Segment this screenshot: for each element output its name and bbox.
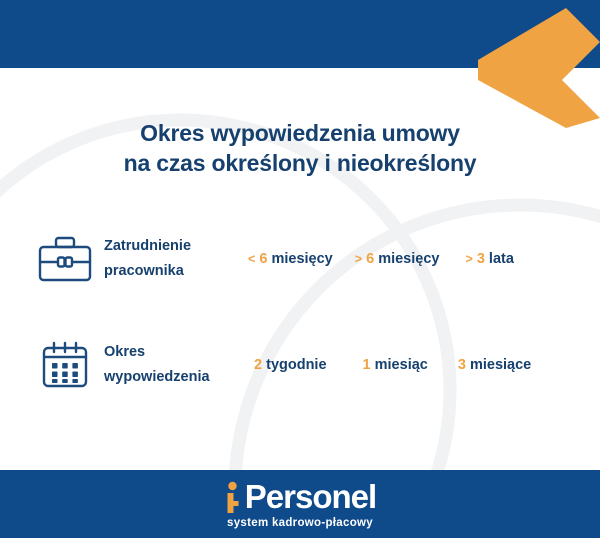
value-notice-1-number: 2 <box>254 357 262 373</box>
page-title: Okres wypowiedzenia umowy na czas określ… <box>0 118 600 178</box>
infographic-canvas: Okres wypowiedzenia umowy na czas określ… <box>0 0 600 538</box>
value-notice-1: 2 tygodnie <box>254 357 327 373</box>
value-notice-2-number: 1 <box>363 357 371 373</box>
value-notice-3: 3 miesiące <box>458 357 531 373</box>
row-employment-values: < 6 miesięcy > 6 miesięcy > 3 lata <box>244 251 600 267</box>
header-band <box>0 0 600 68</box>
person-i-logo-icon <box>224 479 244 513</box>
value-notice-2-unit: miesiąc <box>375 357 428 373</box>
brand-logo: Personel <box>224 479 376 513</box>
value-employment-3-number: 3 <box>477 251 485 267</box>
row-notice-label-line-2: wypowiedzenia <box>104 365 244 390</box>
value-employment-1-operator: < <box>248 252 255 266</box>
row-employment-label: Zatrudnienie pracownika <box>104 234 244 284</box>
row-employment-label-line-1: Zatrudnienie <box>104 234 244 259</box>
value-employment-1-number: 6 <box>259 251 267 267</box>
brand-logo-text: Personel <box>245 480 376 513</box>
value-notice-1-unit: tygodnie <box>266 357 326 373</box>
row-notice-values: 2 tygodnie 1 miesiąc 3 miesiące <box>244 357 600 373</box>
value-employment-2: > 6 miesięcy <box>355 251 440 267</box>
row-notice-label: Okres wypowiedzenia <box>104 340 244 390</box>
value-employment-1-unit: miesięcy <box>271 251 332 267</box>
row-notice: Okres wypowiedzenia 2 tygodnie 1 miesiąc… <box>0 334 600 396</box>
value-employment-2-unit: miesięcy <box>378 251 439 267</box>
title-line-1: Okres wypowiedzenia umowy <box>0 118 600 148</box>
briefcase-icon <box>34 236 96 282</box>
title-line-2: na czas określony i nieokreślony <box>0 148 600 178</box>
row-notice-label-line-1: Okres <box>104 340 244 365</box>
footer-band: Personel system kadrowo-płacowy <box>0 470 600 538</box>
value-employment-3-unit: lata <box>489 251 514 267</box>
value-employment-3: > 3 lata <box>465 251 513 267</box>
value-employment-3-operator: > <box>465 252 472 266</box>
row-employment-label-line-2: pracownika <box>104 259 244 284</box>
row-employment: Zatrudnienie pracownika < 6 miesięcy > 6… <box>0 228 600 290</box>
value-employment-1: < 6 miesięcy <box>248 251 333 267</box>
value-notice-3-unit: miesiące <box>470 357 531 373</box>
value-notice-3-number: 3 <box>458 357 466 373</box>
calendar-icon <box>34 341 96 389</box>
brand-tagline: system kadrowo-płacowy <box>227 517 373 529</box>
value-employment-2-operator: > <box>355 252 362 266</box>
value-notice-2: 1 miesiąc <box>363 357 428 373</box>
value-employment-2-number: 6 <box>366 251 374 267</box>
